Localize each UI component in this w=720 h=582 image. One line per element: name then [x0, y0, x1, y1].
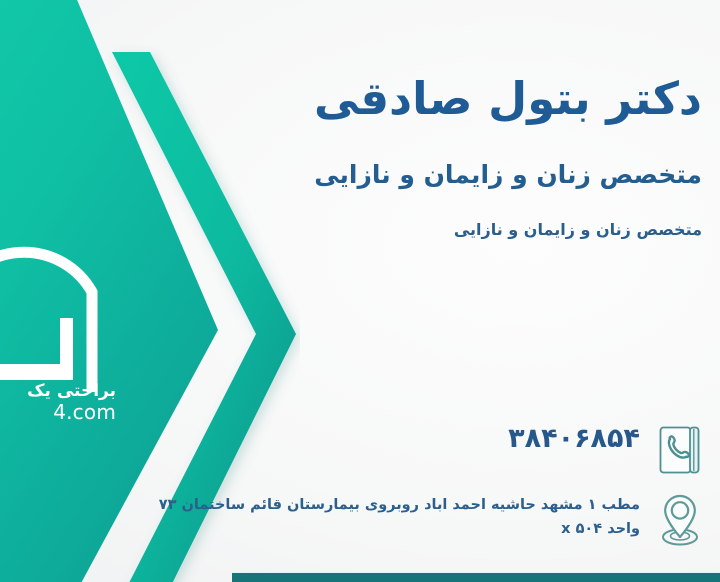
phone-number[interactable]: ۳۸۴۰۶۸۵۴ — [508, 419, 640, 454]
business-card: براحتی یک 4.com دکتر بتول صادقی متخصص زن… — [0, 0, 720, 582]
phone-book-icon — [654, 424, 706, 482]
doctor-name: دکتر بتول صادقی — [302, 73, 702, 125]
address-line-2: واحد ۵۰۴ x — [240, 518, 640, 542]
map-pin-icon — [654, 492, 706, 550]
phone-text: ۳۸۴۰۶۸۵۴ — [508, 424, 640, 454]
card-content: دکتر بتول صادقی متخصص زنان و زایمان و نا… — [290, 0, 720, 582]
watermark-persian: براحتی یک — [0, 382, 116, 401]
watermark-text: براحتی یک 4.com — [0, 382, 116, 423]
bottom-accent-bar — [232, 573, 720, 582]
specialty-primary: متخصص زنان و زایمان و نازایی — [302, 158, 702, 192]
address-text: مطب ۱ مشهد حاشیه احمد اباد روبروی بیمارس… — [240, 492, 640, 542]
watermark-domain: 4.com — [0, 401, 116, 423]
phone-contact-row[interactable]: ۳۸۴۰۶۸۵۴ — [508, 424, 706, 482]
address-contact-row[interactable]: مطب ۱ مشهد حاشیه احمد اباد روبروی بیمارس… — [240, 492, 706, 550]
address-line-1: مطب ۱ مشهد حاشیه احمد اباد روبروی بیمارس… — [240, 494, 640, 518]
specialty-secondary: متخصص زنان و زایمان و نازایی — [302, 219, 702, 241]
